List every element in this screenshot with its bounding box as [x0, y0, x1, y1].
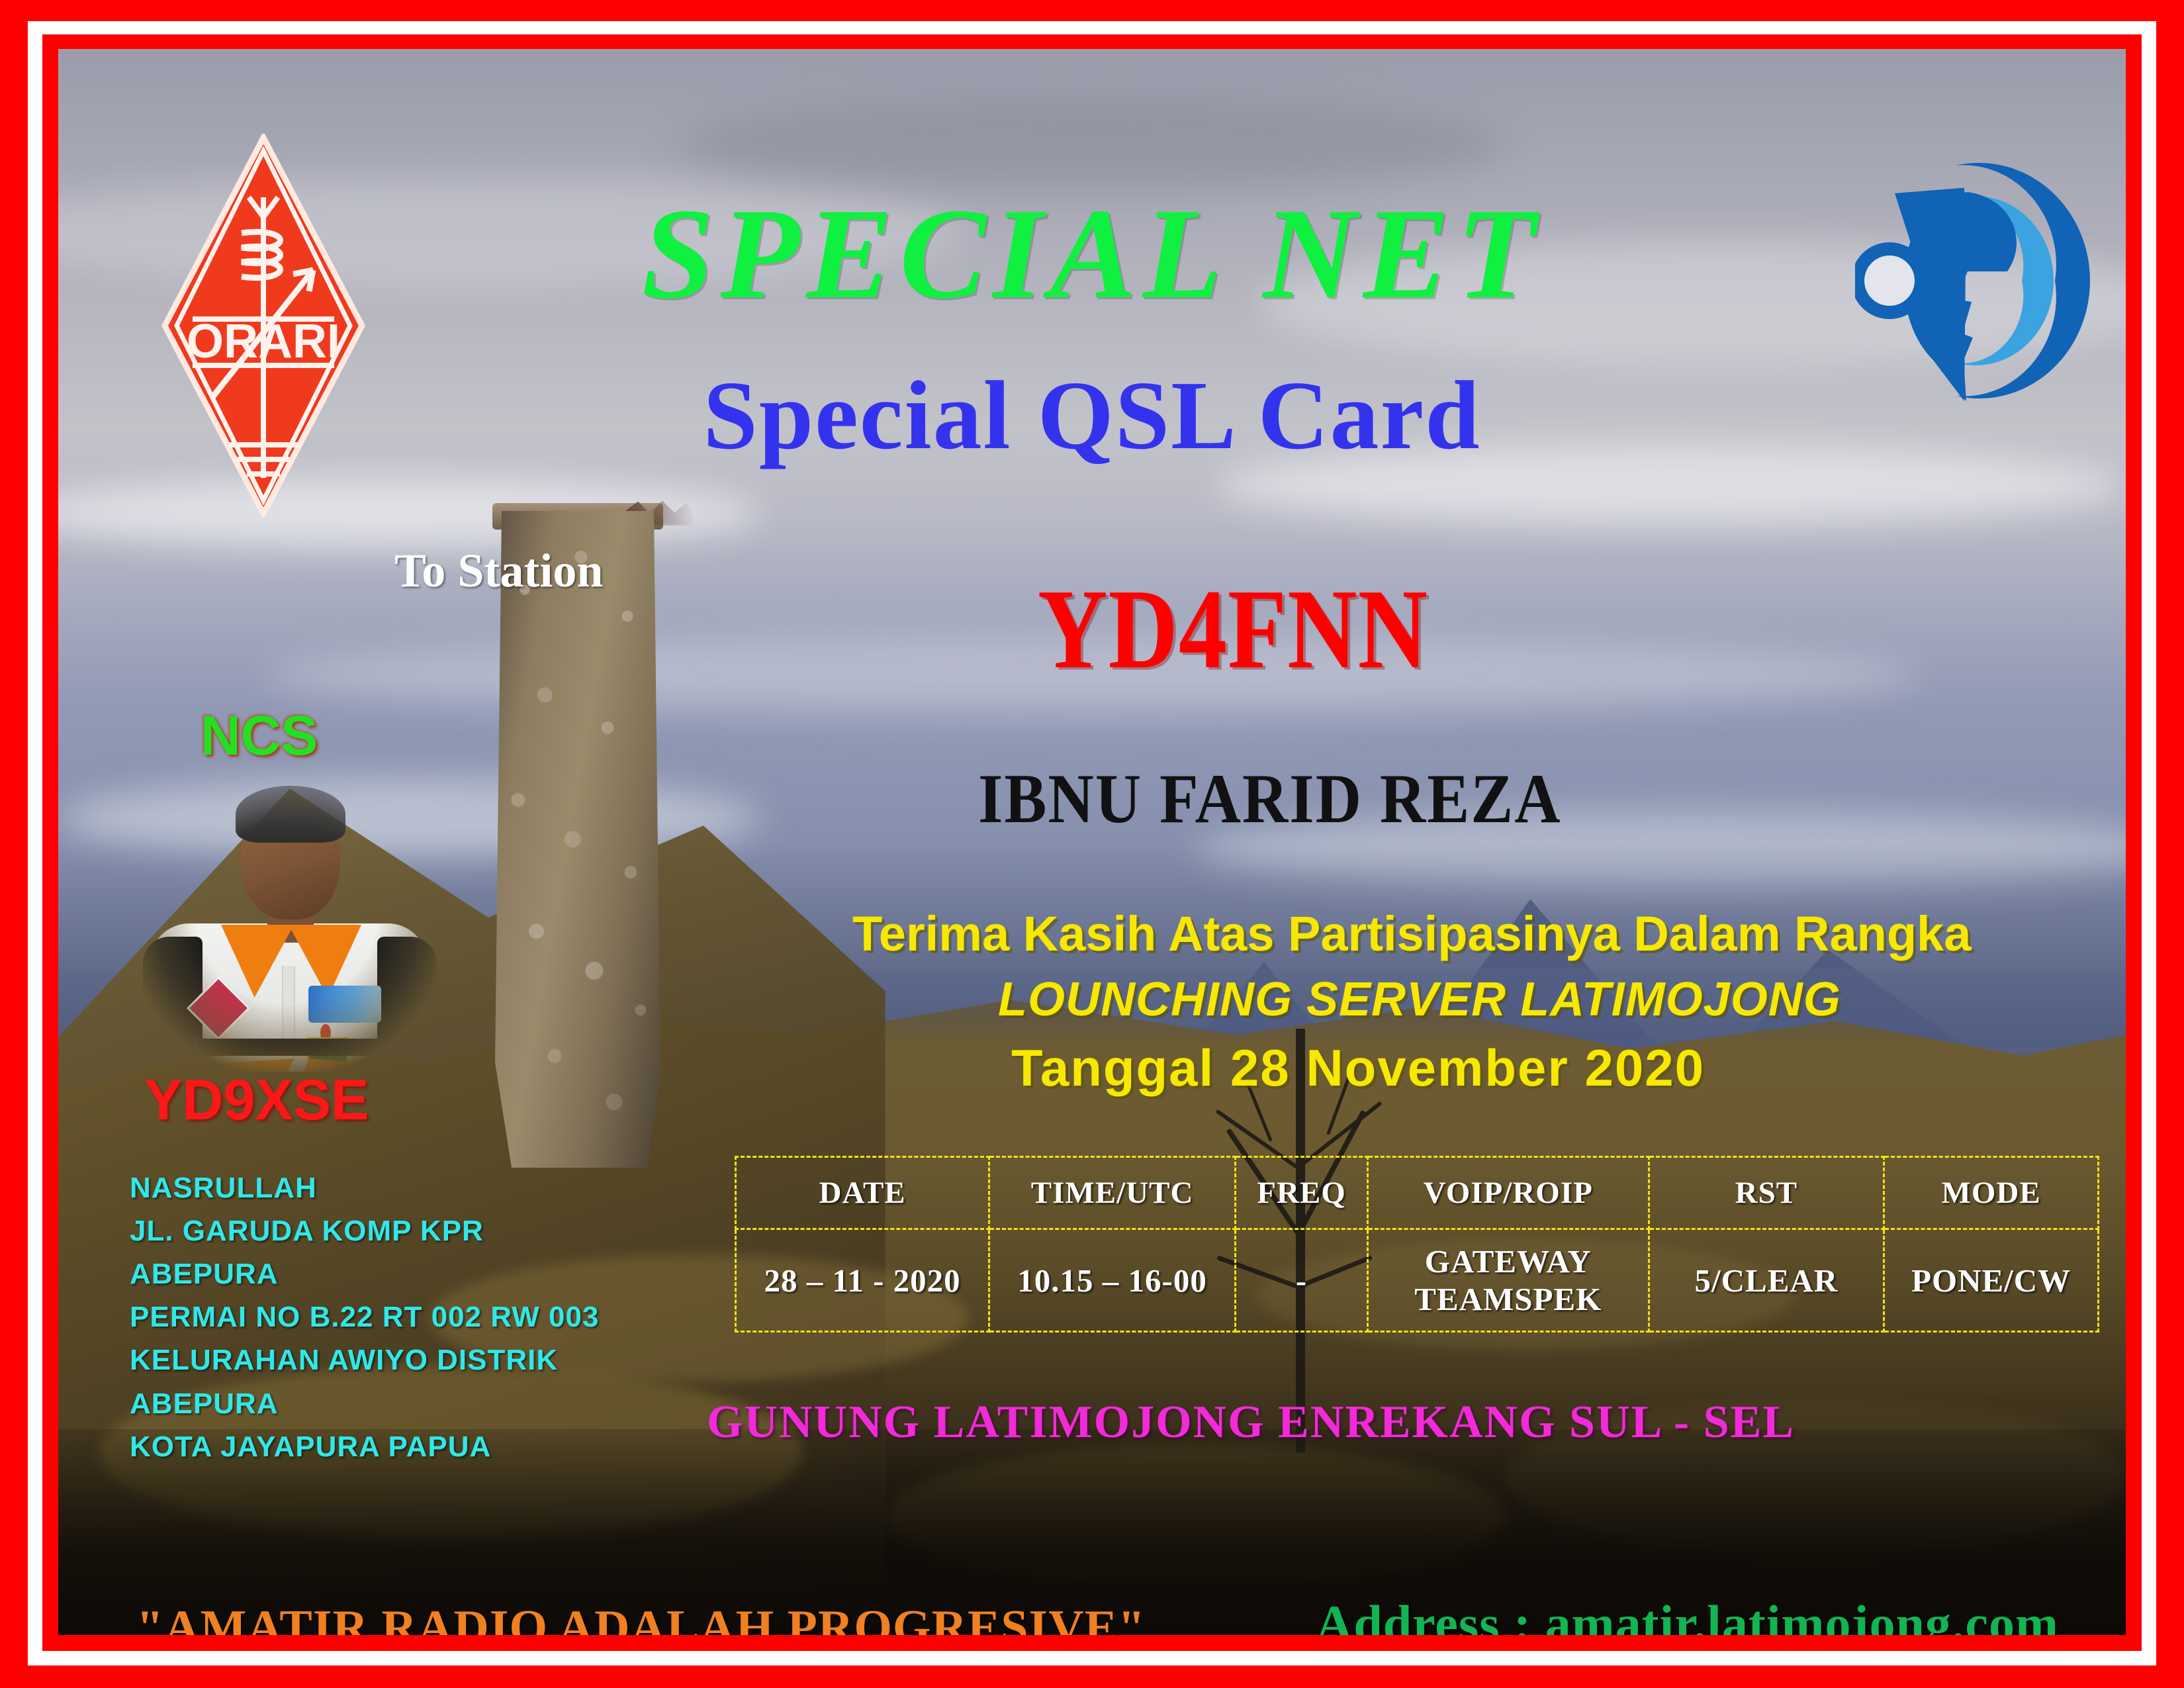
portrait-belt-right: [295, 1039, 394, 1056]
address-line: KOTA JAYAPURA PAPUA: [130, 1425, 672, 1468]
portrait-belt-left: [203, 1039, 295, 1056]
card-background-photo: ORARI SPECIAL NET Special QSL Card To St…: [58, 49, 2126, 1635]
location-name: GUNUNG LATIMOJONG ENREKANG SUL - SEL: [707, 1399, 1795, 1446]
cell-voip-line2: TEAMSPEK: [1369, 1280, 1647, 1318]
table-row: 28 – 11 - 2020 10.15 – 16-00 - GATEWAY T…: [736, 1229, 2099, 1332]
event-title: LOUNCHING SERVER LATIMOJONG: [998, 976, 1841, 1023]
address-line: ABEPURA: [130, 1252, 672, 1295]
ncs-operator-photo: YD9XSE: [124, 767, 449, 1072]
portrait-shirt-logo: [308, 986, 381, 1023]
footer-website: Address : amatir.latimojong.com: [1316, 1598, 2059, 1635]
portrait-hair: [236, 786, 345, 843]
address-line: JL. GARUDA KOMP KPR: [130, 1209, 672, 1252]
address-line: KELURAHAN AWIYO DISTRIK: [130, 1338, 672, 1382]
ncs-label: NCS: [201, 708, 318, 763]
photo-vignette: YD9XSE: [124, 767, 449, 1072]
qsl-card: ORARI SPECIAL NET Special QSL Card To St…: [0, 0, 2184, 1688]
column-header-date: DATE: [736, 1157, 989, 1229]
column-header-mode: MODE: [1884, 1157, 2099, 1229]
ncs-callsign: YD9XSE: [144, 1072, 369, 1129]
orari-logo-text: ORARI: [187, 315, 340, 368]
cell-mode: PONE/CW: [1884, 1229, 2099, 1332]
cell-rst: 5/CLEAR: [1649, 1229, 1884, 1332]
cloud-band: [678, 97, 1506, 192]
operator-name: IBNU FARID REZA: [978, 764, 1562, 834]
column-header-rst: RST: [1649, 1157, 1884, 1229]
thanks-line: Terima Kasih Atas Partisipasinya Dalam R…: [852, 910, 1971, 959]
address-line: PERMAI NO B.22 RT 002 RW 003: [130, 1295, 672, 1338]
cell-voip-line1: GATEWAY: [1369, 1243, 1647, 1280]
cell-time: 10.15 – 16-00: [989, 1229, 1236, 1332]
column-header-voip: VOIP/ROIP: [1368, 1157, 1649, 1229]
cell-freq: -: [1235, 1229, 1367, 1332]
qso-details-table: DATE TIME/UTC FREQ VOIP/ROIP RST MODE 28…: [735, 1156, 2099, 1333]
address-line: NASRULLAH: [130, 1166, 672, 1209]
column-header-freq: FREQ: [1235, 1157, 1367, 1229]
portrait-shoulder-right: [377, 937, 437, 1056]
address-line: ABEPURA: [130, 1382, 672, 1425]
to-station-label: To Station: [394, 547, 603, 594]
table-header-row: DATE TIME/UTC FREQ VOIP/ROIP RST MODE: [736, 1157, 2099, 1229]
cell-voip: GATEWAY TEAMSPEK: [1368, 1229, 1649, 1332]
page-title: SPECIAL NET: [58, 189, 2126, 319]
cairn-stonework: [495, 511, 660, 1168]
card-subtitle: Special QSL Card: [58, 367, 2126, 465]
station-callsign: YD4FNN: [1038, 572, 1428, 686]
footer-motto: "AMATIR RADIO ADALAH PROGRESIVE": [136, 1603, 1146, 1635]
portrait-shirt-placket: [283, 966, 294, 1072]
column-header-time: TIME/UTC: [989, 1157, 1236, 1229]
mailing-address: NASRULLAH JL. GARUDA KOMP KPR ABEPURA PE…: [130, 1166, 672, 1468]
cell-date: 28 – 11 - 2020: [736, 1229, 989, 1332]
event-date: Tanggal 28 November 2020: [1011, 1042, 1705, 1094]
